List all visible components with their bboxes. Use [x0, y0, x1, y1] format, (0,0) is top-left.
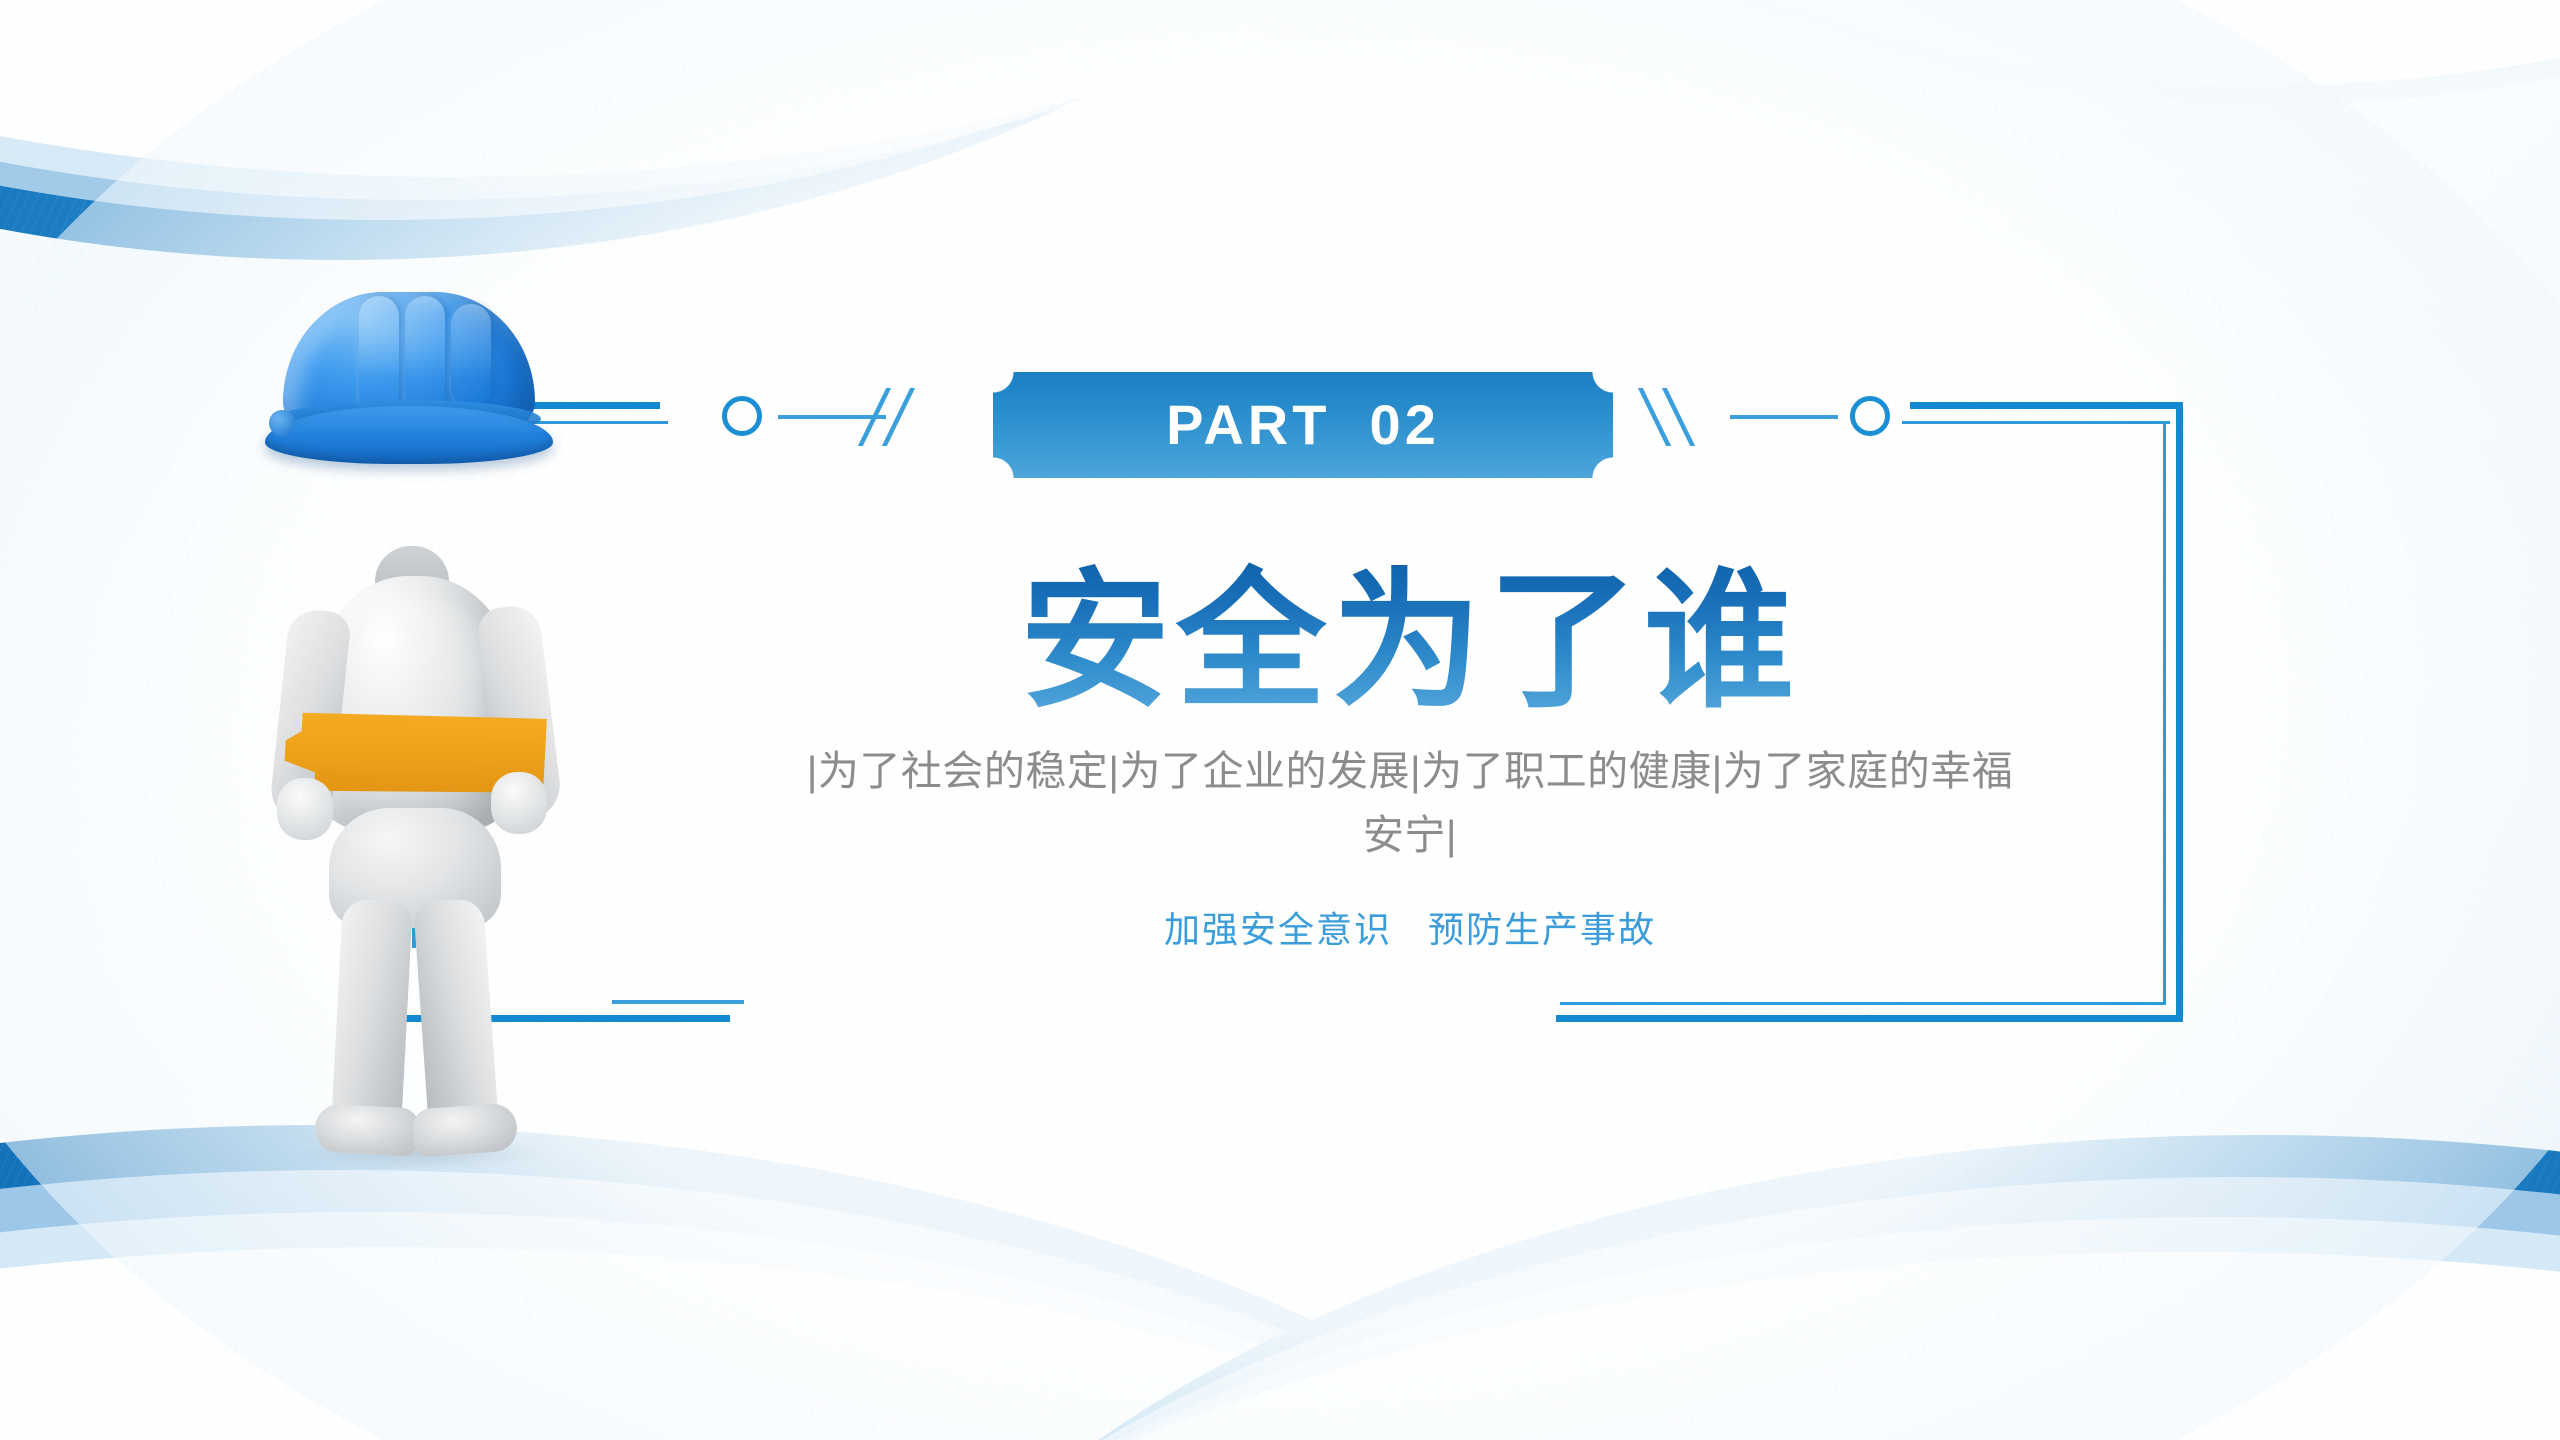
background-swoosh-top-right-tint: [1220, 0, 2560, 105]
decor-line-right-thin: [1902, 421, 2170, 424]
background-swoosh-top-right-white: [1190, 0, 2560, 85]
decor-line-right-thick: [1910, 402, 2182, 409]
hard-hat-rib: [359, 296, 399, 414]
frame-bottom-right-thin: [1560, 1002, 2166, 1005]
background-swoosh-bottom-left-pale: [0, 1212, 1985, 1440]
figure-left-leg: [331, 898, 413, 1131]
circle-outline-icon-right: [1850, 396, 1890, 436]
background-swoosh-bottom-right-deep: [810, 1135, 2560, 1440]
decor-slashes-right: [1642, 388, 1712, 450]
decor-slashes-left: [862, 388, 932, 450]
decor-line-right-stub: [1730, 415, 1838, 419]
figure-left-foot: [314, 1103, 420, 1156]
frame-bottom-right-thick: [1556, 1015, 2183, 1022]
figure-right-hand: [491, 772, 547, 834]
section-banner-label: PART 02: [1166, 397, 1440, 453]
hard-hat-rib: [451, 304, 491, 408]
figure-right-leg: [413, 898, 499, 1132]
title-text-block: 安全为了谁 |为了社会的稳定|为了企业的发展|为了职工的健康|为了家庭的幸福安宁…: [640, 560, 2180, 953]
background-swoosh-top-left-pale: [0, 0, 1770, 200]
background-swoosh-bottom-right-pale: [648, 1217, 2560, 1440]
background-swoosh-bottom-left-mid: [0, 1170, 1900, 1440]
section-banner: PART 02: [993, 372, 1613, 478]
tagline-text: 加强安全意识 预防生产事故: [640, 901, 2180, 953]
hard-hat-knob: [269, 410, 295, 436]
page-title: 安全为了谁: [640, 560, 2180, 722]
slide-canvas: PART 02 安全为了谁 |为了社会的稳定|为了企业的发展|为了职工的健康|为…: [0, 0, 2560, 1440]
background-swoosh-bottom-left-deep: [0, 1125, 1820, 1440]
background-swoosh-top-left-white: [0, 0, 1870, 177]
circle-outline-icon-left: [722, 396, 762, 436]
worker-illustration: [255, 280, 595, 1090]
background-swoosh-bottom-right-white: [565, 1252, 2560, 1440]
figure-right-foot: [411, 1102, 518, 1157]
hard-hat-rib: [405, 296, 445, 414]
decor-line-bottom-accent: [612, 1000, 744, 1004]
background-swoosh-bottom-right-mid: [730, 1177, 2560, 1440]
subtitle-text: |为了社会的稳定|为了企业的发展|为了职工的健康|为了家庭的幸福安宁|: [790, 740, 2030, 867]
figure-left-hand: [277, 778, 333, 840]
background-swoosh-bottom-left-white: [0, 1247, 2070, 1440]
decor-line-left-stub: [778, 415, 886, 419]
background-swoosh-top-left-mid: [0, 0, 1660, 220]
background-swoosh-top-left-deep: [0, 0, 1540, 260]
